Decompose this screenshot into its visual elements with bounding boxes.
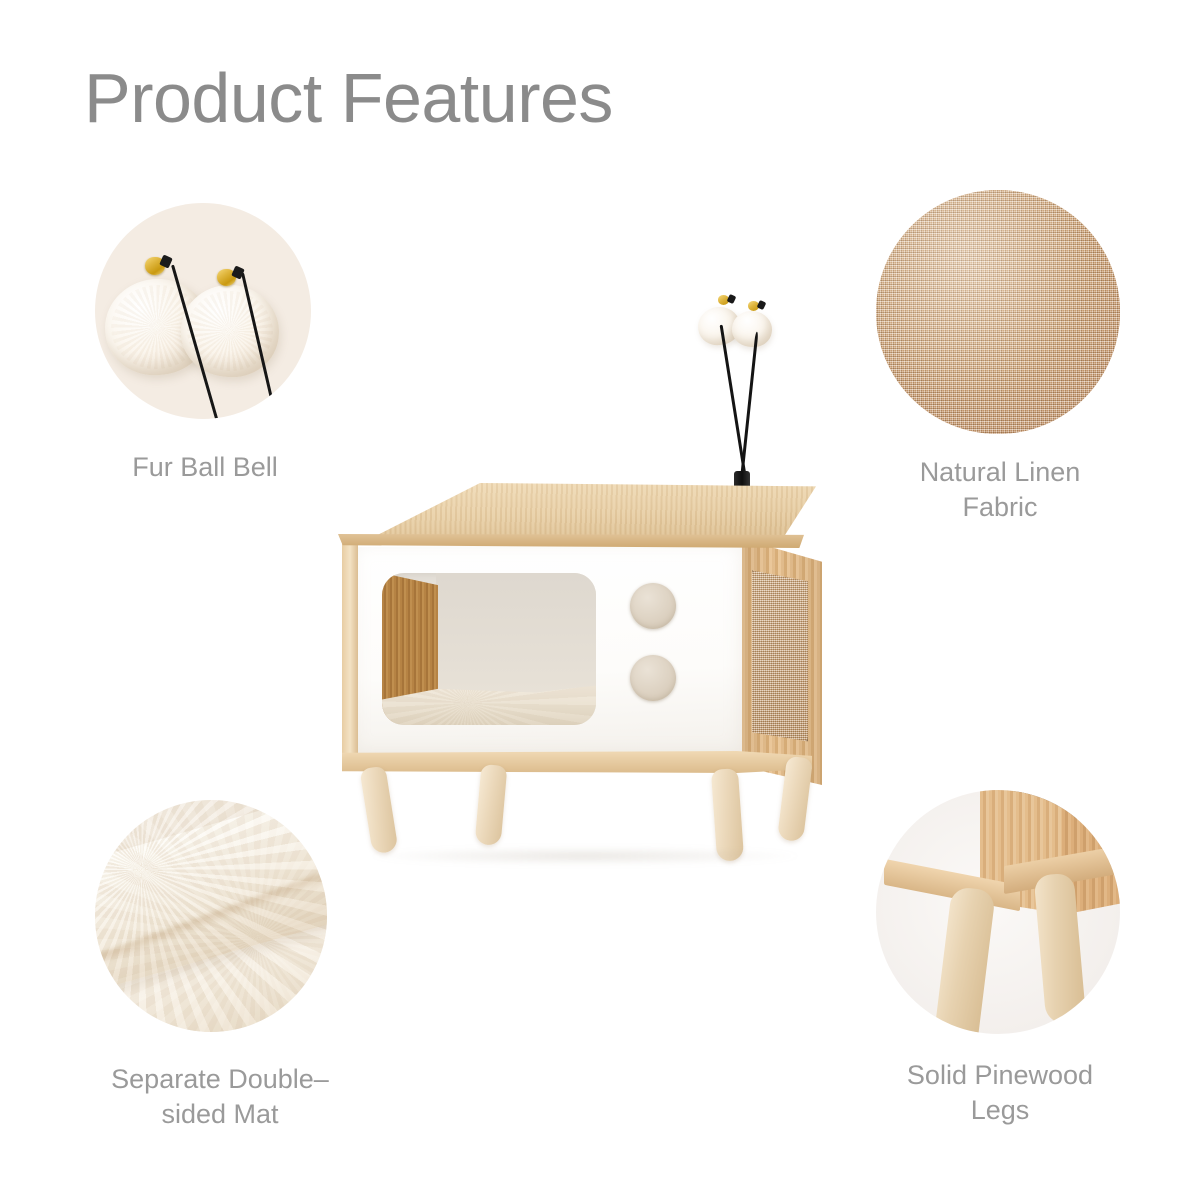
fur-ball-bell-icon: [95, 203, 311, 419]
mat-sherpa-texture: [95, 800, 327, 1032]
product-linen-scratching-panel: [752, 565, 808, 745]
legs-inset-leg-front: [932, 886, 996, 1034]
feature-label-separate-double-sided-mat: Separate Double– sided Mat: [20, 1062, 420, 1131]
product-top-front-edge: [338, 534, 804, 548]
product-left-wood-post: [342, 541, 358, 763]
page-title: Product Features: [84, 58, 613, 138]
feature-label-line-2: sided Mat: [20, 1097, 420, 1132]
product-bottom-rail: [342, 751, 812, 773]
toy-fur-ball-right: [730, 309, 774, 349]
feature-label-line-2: Legs: [845, 1093, 1155, 1128]
toy-spring-wire-right: [720, 325, 747, 480]
product-leg-front-left: [359, 765, 398, 854]
product-top-wood-grain: [336, 483, 816, 539]
feature-label-line-2: Fabric: [860, 490, 1140, 525]
feature-label-line-1: Separate Double–: [20, 1062, 420, 1097]
product-leg-back-left: [475, 764, 508, 846]
product-toy-fur-ball-wand: [682, 285, 802, 515]
product-knob-lower: [630, 655, 676, 701]
linen-fabric-icon: [876, 190, 1120, 434]
pinewood-legs-icon: [876, 790, 1120, 1034]
feature-label-line-1: Solid Pinewood: [845, 1058, 1155, 1093]
feature-label-natural-linen-fabric: Natural Linen Fabric: [860, 455, 1140, 524]
feature-label-fur-ball-bell: Fur Ball Bell: [30, 450, 380, 485]
product-image-cat-house: [330, 455, 850, 885]
fleece-mat-icon: [95, 800, 327, 1032]
product-knob-upper: [630, 583, 676, 629]
infographic-canvas: Product Features Fur Ball Bell Natural L…: [0, 0, 1200, 1200]
product-ground-shadow: [370, 847, 800, 865]
feature-label-solid-pinewood-legs: Solid Pinewood Legs: [845, 1058, 1155, 1127]
linen-highlight: [876, 190, 1120, 434]
feature-label-line-1: Natural Linen: [860, 455, 1140, 490]
product-screen-opening: [382, 573, 596, 725]
